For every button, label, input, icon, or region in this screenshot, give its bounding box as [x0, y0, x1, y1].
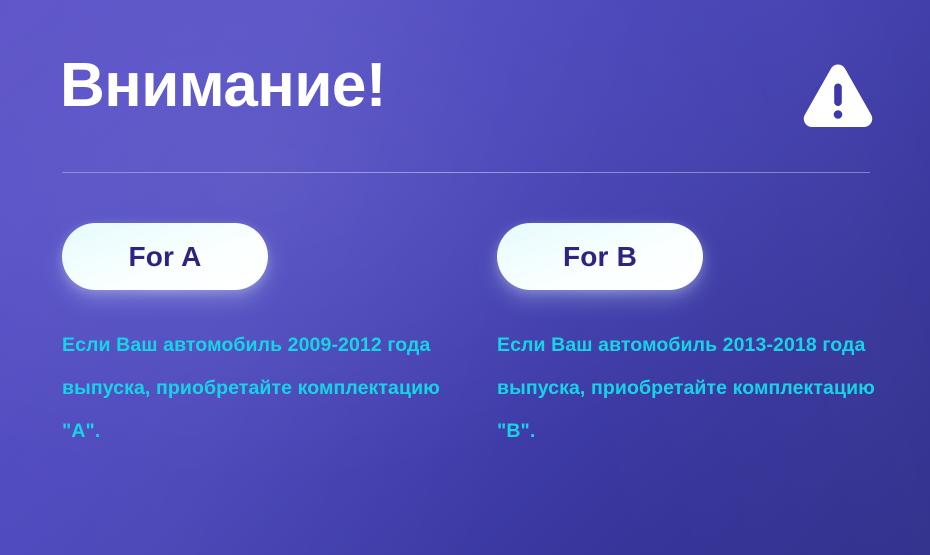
warning-triangle-icon	[802, 58, 874, 130]
for-b-button-wrap: For B	[497, 214, 703, 290]
option-column-a: For A Если Ваш автомобиль 2009-2012 года…	[62, 214, 462, 453]
option-b-description: Если Ваш автомобиль 2013-2018 года выпус…	[497, 324, 889, 453]
option-a-description: Если Ваш автомобиль 2009-2012 года выпус…	[62, 324, 454, 453]
option-column-b: For B Если Ваш автомобиль 2013-2018 года…	[497, 214, 897, 453]
page-title: Внимание!	[60, 55, 386, 117]
attention-banner: Внимание! For A Если Ваш автомобиль 2009…	[0, 0, 930, 555]
for-a-button[interactable]: For A	[62, 223, 268, 290]
for-b-button[interactable]: For B	[497, 223, 703, 290]
for-a-button-wrap: For A	[62, 214, 268, 290]
header-divider	[62, 172, 870, 173]
